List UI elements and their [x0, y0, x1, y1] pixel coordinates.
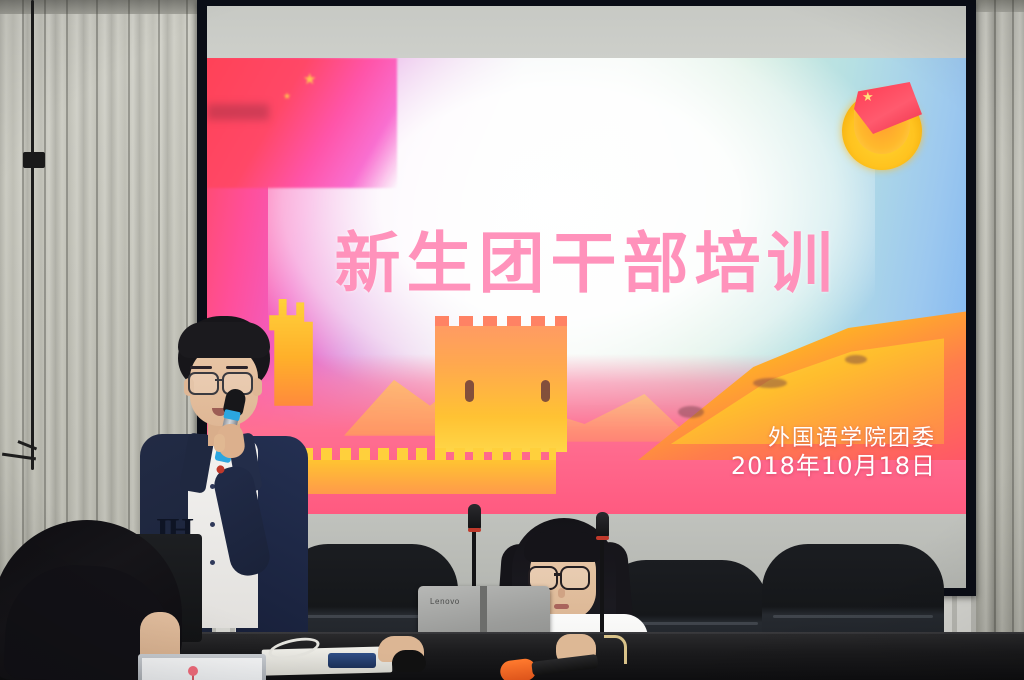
foreground-laptop-screen — [142, 658, 262, 680]
great-wall-illustration — [207, 299, 966, 514]
presenter-glasses-left — [188, 372, 219, 395]
conference-room-photo: ★ ★ — [0, 0, 1024, 680]
flag-star-small: ★ — [283, 92, 291, 101]
foreground-pink-marker — [188, 666, 198, 676]
slide-title: 新生团干部培训 — [207, 210, 966, 306]
communist-youth-league-emblem: ★ — [838, 78, 934, 170]
phone-on-table[interactable] — [328, 653, 376, 668]
slide-organization: 外国语学院团委 — [731, 426, 936, 452]
projection-screen-frame: ★ ★ — [197, 0, 976, 596]
slide-credit-block: 外国语学院团委 2018年10月18日 — [731, 426, 936, 480]
watchtower-window-right — [541, 380, 550, 402]
hanging-cable — [31, 0, 34, 470]
foreground-person-back-view — [0, 520, 212, 680]
presentation-slide: ★ ★ — [207, 58, 966, 514]
flag-star-large: ★ — [303, 72, 316, 87]
watchtower-window-left — [465, 380, 474, 402]
slide-date: 2018年10月18日 — [731, 452, 936, 480]
wall-mounted-junction-box — [23, 152, 45, 168]
computer-mouse[interactable] — [392, 650, 426, 672]
wrist-bracelet — [604, 635, 627, 664]
chinese-national-flag: ★ ★ — [207, 58, 397, 188]
woman-glasses-right — [560, 566, 590, 590]
screen-blank-band-top — [207, 6, 966, 58]
microphone-power-button[interactable] — [216, 465, 225, 474]
laptop-brand-logo: Lenovo — [430, 597, 460, 606]
hanging-cable-lower — [17, 440, 37, 450]
projection-screen-surface: ★ ★ — [207, 6, 966, 588]
emblem-star-icon: ★ — [862, 90, 874, 103]
